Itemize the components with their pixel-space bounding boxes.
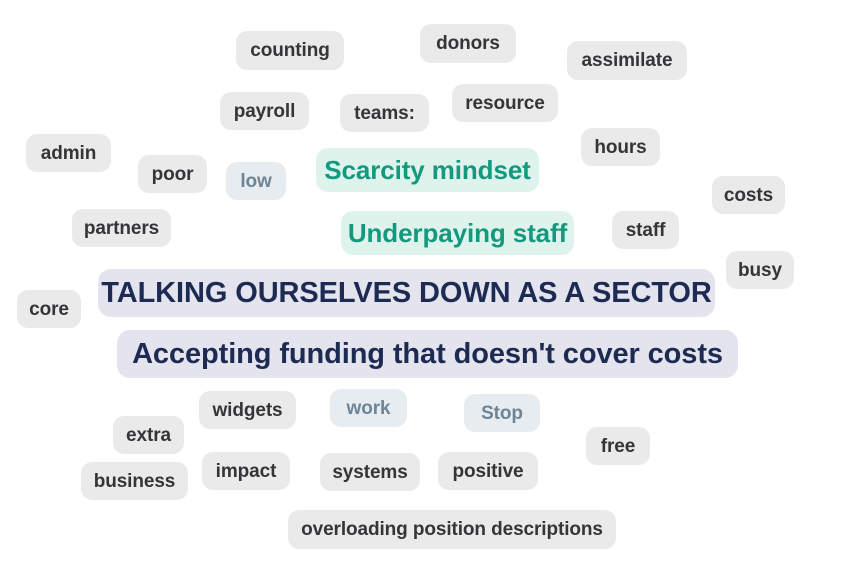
word-chip: overloading position descriptions <box>288 510 616 549</box>
word-chip: free <box>586 427 650 465</box>
word-chip: teams: <box>340 94 429 132</box>
word-chip: resource <box>452 84 558 122</box>
word-chip: core <box>17 290 81 328</box>
word-chip: systems <box>320 453 420 491</box>
word-chip: assimilate <box>567 41 687 80</box>
word-chip: positive <box>438 452 538 490</box>
word-chip: busy <box>726 251 794 289</box>
word-chip: TALKING OURSELVES DOWN AS A SECTOR <box>98 269 715 317</box>
word-chip: low <box>226 162 286 200</box>
word-chip: work <box>330 389 407 427</box>
wordcloud-canvas: countingdonorsassimilatepayrollteams:res… <box>0 0 868 570</box>
word-chip: hours <box>581 128 660 166</box>
word-chip: staff <box>612 211 679 249</box>
word-chip: costs <box>712 176 785 214</box>
word-chip: extra <box>113 416 184 454</box>
word-chip: partners <box>72 209 171 247</box>
word-chip: widgets <box>199 391 296 429</box>
word-chip: poor <box>138 155 207 193</box>
word-chip: donors <box>420 24 516 63</box>
word-chip: admin <box>26 134 111 172</box>
word-chip: business <box>81 462 188 500</box>
word-chip: Stop <box>464 394 540 432</box>
word-chip: counting <box>236 31 344 70</box>
word-chip: payroll <box>220 92 309 130</box>
word-chip: Accepting funding that doesn't cover cos… <box>117 330 738 378</box>
word-chip: Scarcity mindset <box>316 148 539 192</box>
word-chip: impact <box>202 452 290 490</box>
word-chip: Underpaying staff <box>341 211 574 255</box>
